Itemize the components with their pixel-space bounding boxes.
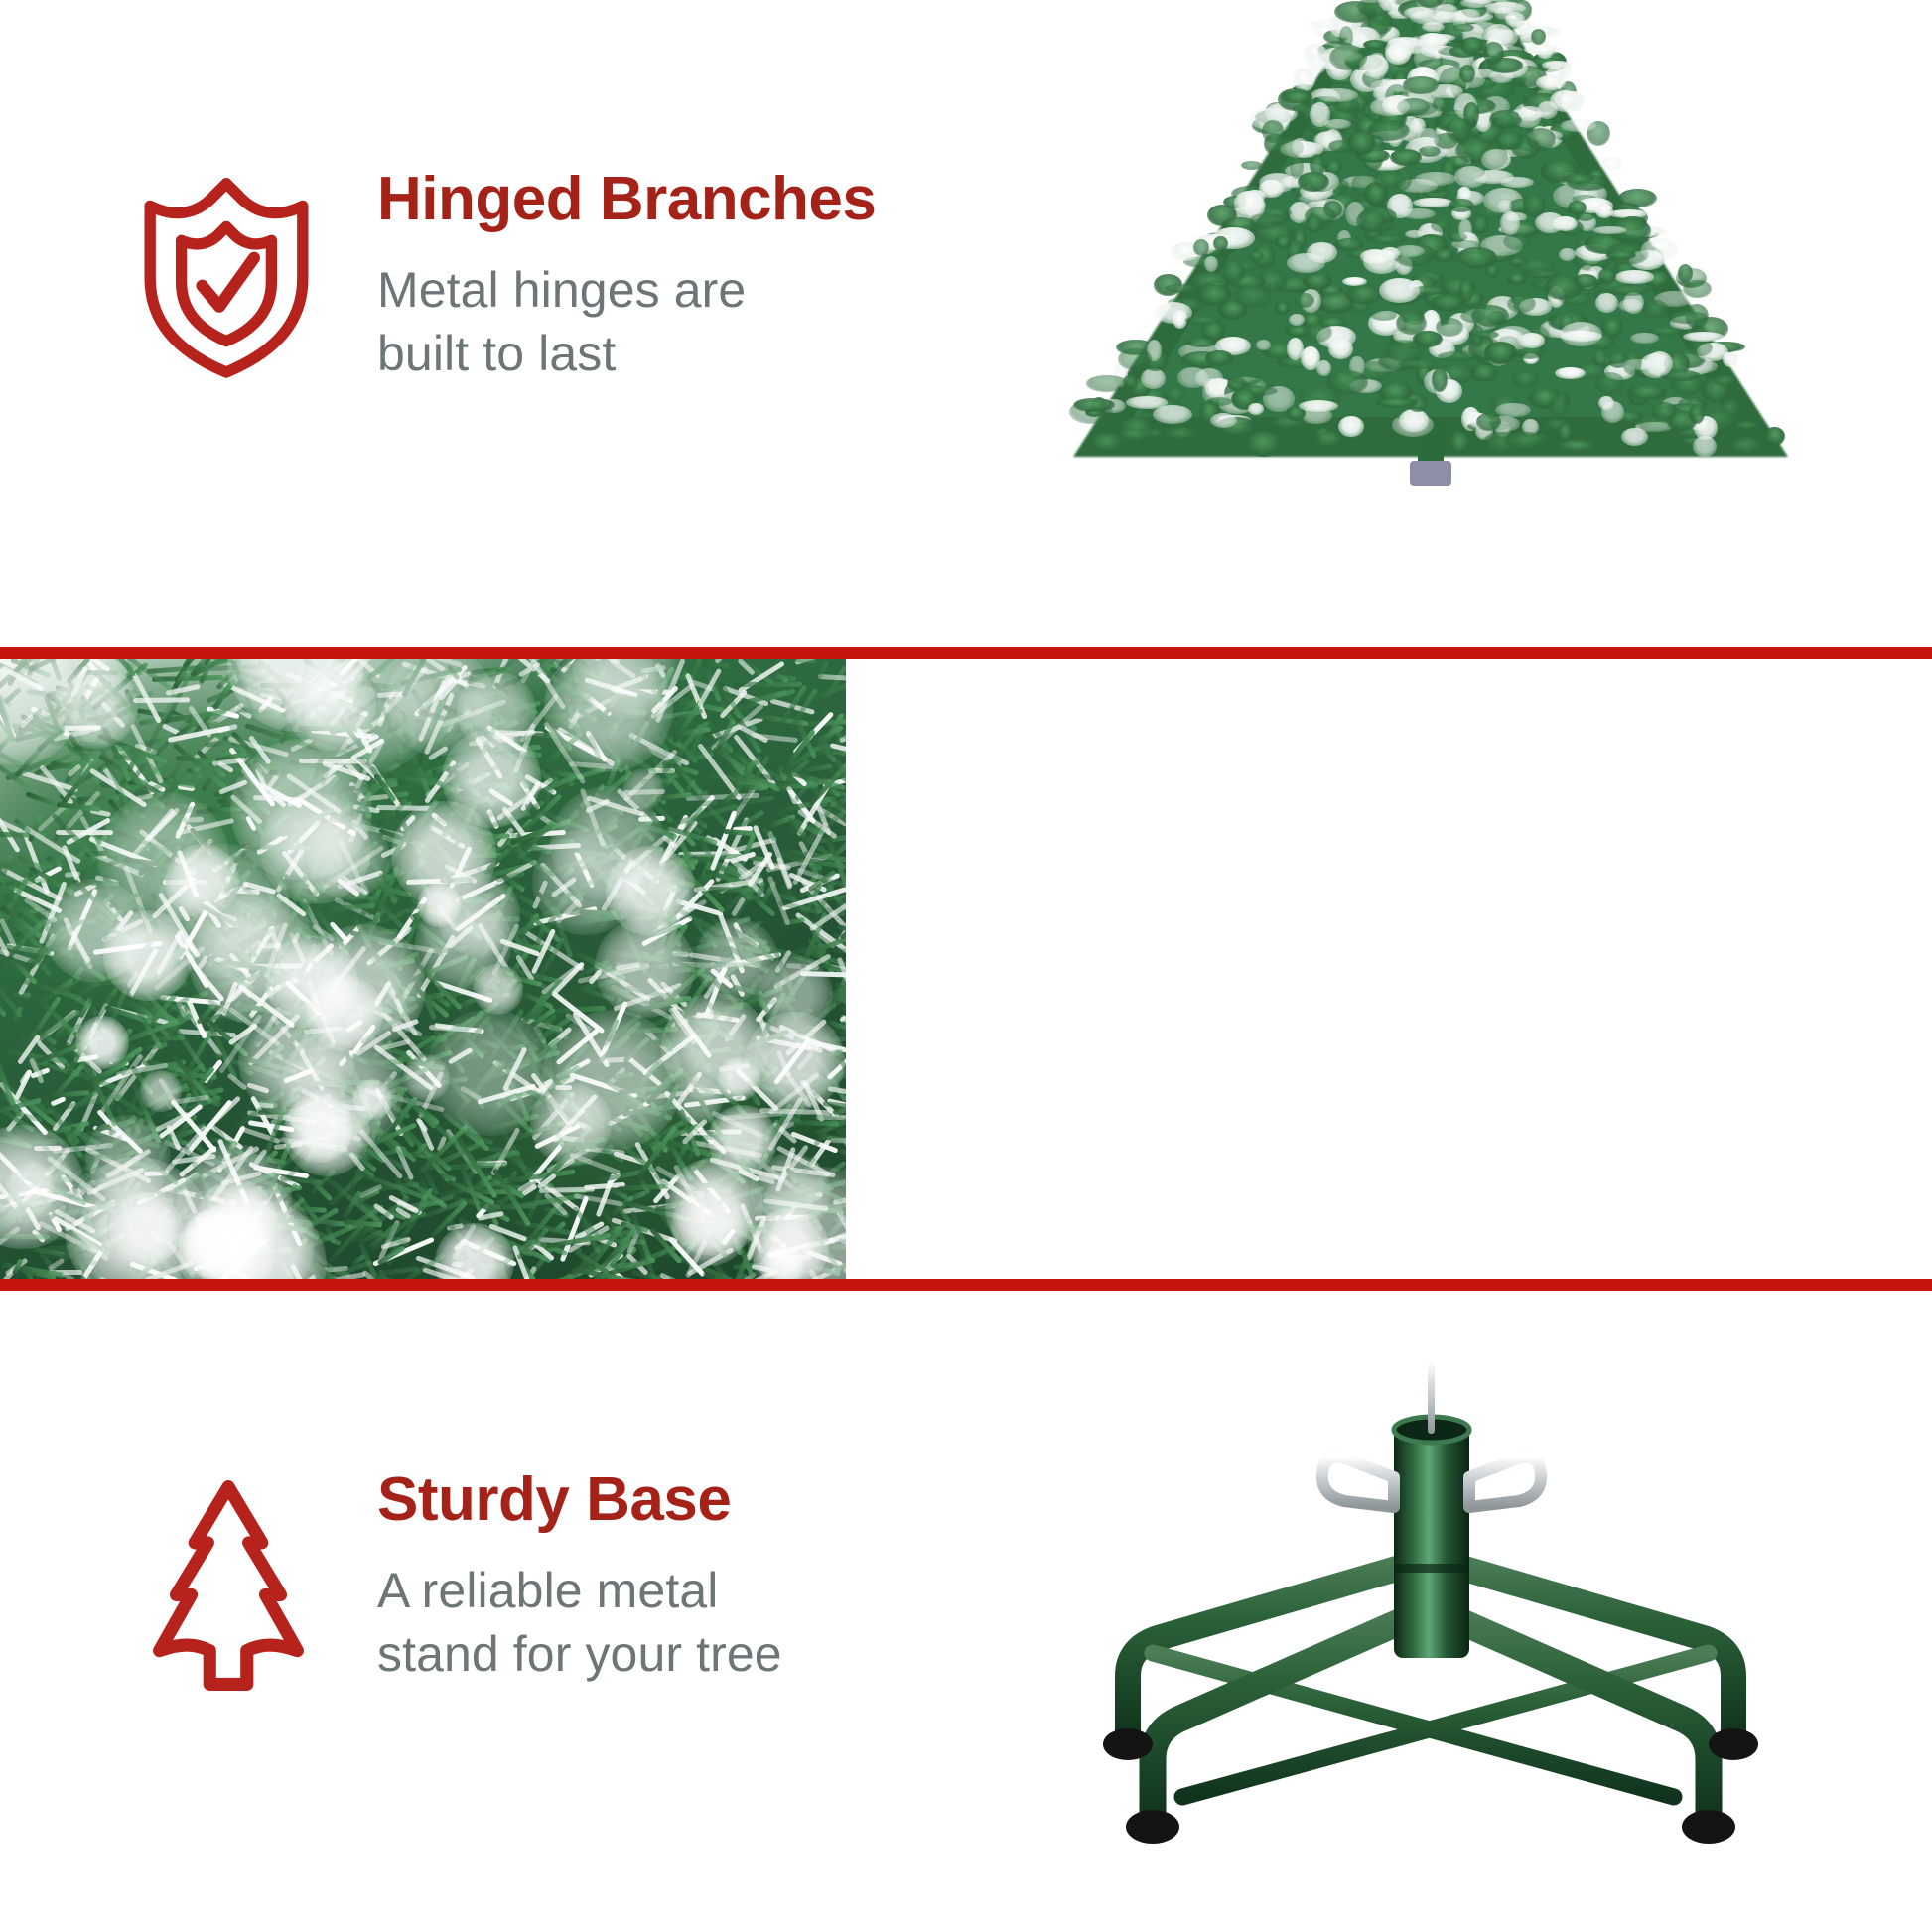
- feature-infographic: Hinged Branches Metal hinges are built t…: [0, 0, 1932, 1932]
- flocked-tree-photo: [929, 0, 1932, 647]
- tree-illustration: [1053, 0, 1808, 496]
- feature-title: Sturdy Base: [377, 1467, 782, 1533]
- stand-illustration: [979, 1311, 1872, 1866]
- feature-body: Metal hinges are built to last: [377, 258, 804, 385]
- shield-check-icon: [139, 175, 314, 379]
- feature-hinged-branches: Hinged Branches Metal hinges are built t…: [139, 167, 876, 385]
- feature-body-line-1: Metal hinges are: [377, 258, 804, 322]
- feature-body-line-1: A reliable metal: [377, 1559, 782, 1622]
- christmas-tree-icon: [139, 1473, 318, 1698]
- feature-title: Hinged Branches: [377, 167, 876, 232]
- feature-body: A reliable metal stand for your tree: [377, 1559, 782, 1686]
- branch-closeup-photo: [0, 659, 846, 1279]
- metal-stand-photo: [979, 1311, 1872, 1866]
- feature-body-line-2: stand for your tree: [377, 1622, 782, 1686]
- feature-band-hinged-branches: Hinged Branches Metal hinges are built t…: [0, 0, 1932, 647]
- divider-bottom: [0, 1279, 1932, 1291]
- divider-top: [0, 647, 1932, 659]
- feature-band-pvc-tips: PVC Tips Flame-retardant and easy to flu…: [0, 659, 1932, 1279]
- feature-body-line-2: built to last: [377, 322, 804, 385]
- feature-band-sturdy-base: Sturdy Base A reliable metal stand for y…: [0, 1291, 1932, 1932]
- feature-sturdy-base: Sturdy Base A reliable metal stand for y…: [139, 1467, 782, 1698]
